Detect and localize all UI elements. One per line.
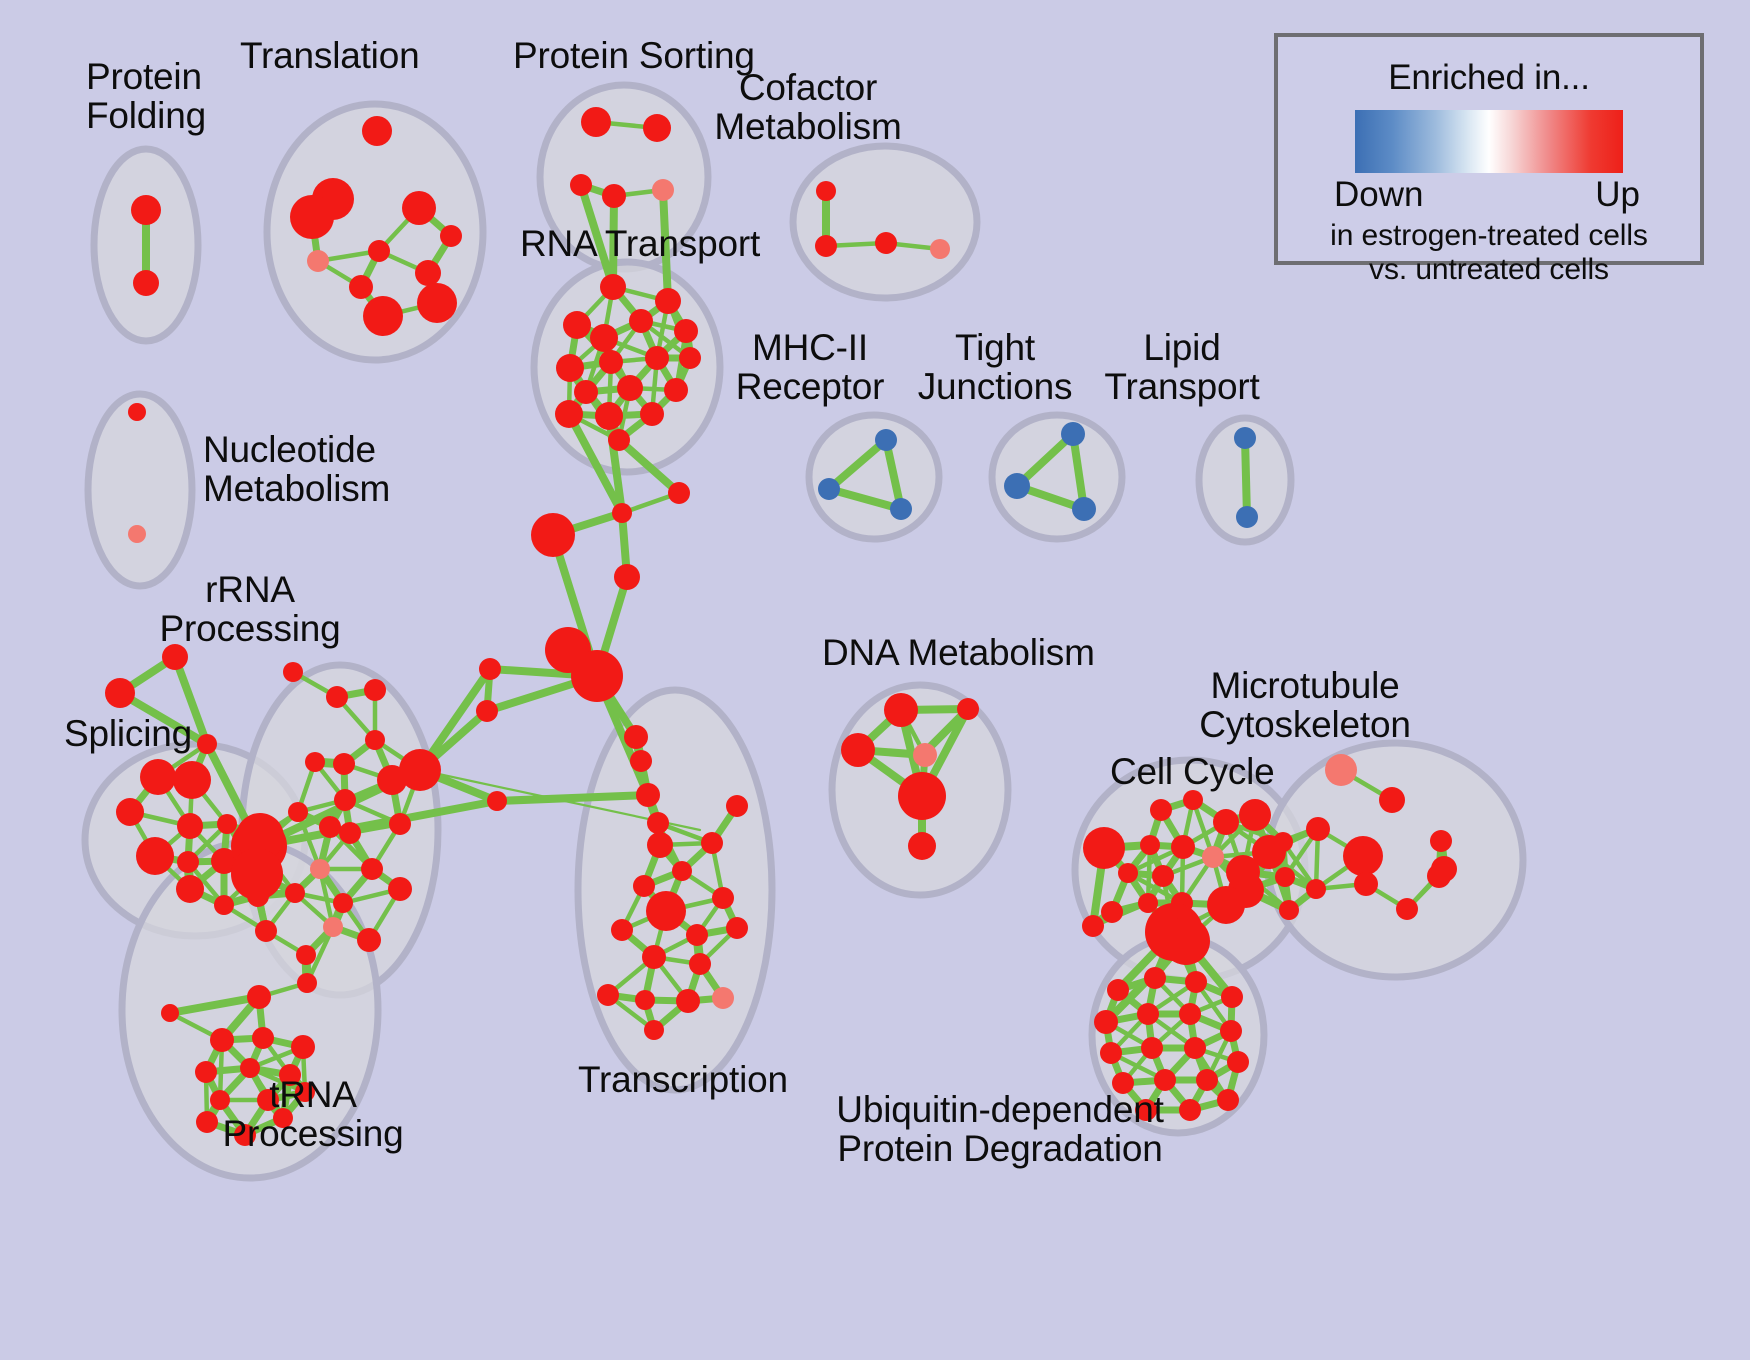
network-node[interactable] xyxy=(1072,497,1096,521)
network-node[interactable] xyxy=(664,378,688,402)
cluster-hull-microtubule-cytoskeleton xyxy=(1267,743,1523,977)
cluster-label-line: Metabolism xyxy=(714,107,901,146)
network-node[interactable] xyxy=(479,658,501,680)
cluster-label-ubiquitin-protein-degradation: Ubiquitin-dependentProtein Degradation xyxy=(836,1090,1163,1168)
network-node[interactable] xyxy=(476,700,498,722)
network-node[interactable] xyxy=(608,429,630,451)
legend-endpoint-labels: Down Up xyxy=(1324,175,1654,217)
network-node[interactable] xyxy=(319,816,341,838)
cluster-hull-nucleotide-metabolism xyxy=(88,394,192,586)
network-node[interactable] xyxy=(563,311,591,339)
cluster-label-line: Processing xyxy=(222,1114,403,1153)
network-node[interactable] xyxy=(388,877,412,901)
cluster-label-splicing: Splicing xyxy=(64,714,192,753)
network-node[interactable] xyxy=(440,225,462,247)
network-node[interactable] xyxy=(415,260,441,286)
network-node[interactable] xyxy=(1179,1003,1201,1025)
cluster-label-translation: Translation xyxy=(240,36,419,75)
network-edge xyxy=(1245,438,1247,517)
network-node[interactable] xyxy=(1217,1089,1239,1111)
network-node[interactable] xyxy=(1239,799,1271,831)
network-node[interactable] xyxy=(128,403,146,421)
cluster-label-line: Lipid xyxy=(1104,328,1259,367)
network-node[interactable] xyxy=(290,195,334,239)
legend-high-label: Up xyxy=(1595,175,1640,215)
cluster-label-rrna-processing: rRNAProcessing xyxy=(159,570,340,648)
figure-canvas: ProteinFoldingTranslationProtein Sorting… xyxy=(0,0,1750,1360)
network-node[interactable] xyxy=(676,989,700,1013)
network-node[interactable] xyxy=(1083,827,1125,869)
network-node[interactable] xyxy=(105,678,135,708)
cluster-label-line: Translation xyxy=(240,36,419,75)
network-node[interactable] xyxy=(875,232,897,254)
network-node[interactable] xyxy=(365,730,385,750)
cluster-label-transcription: Transcription xyxy=(578,1060,788,1099)
network-node[interactable] xyxy=(252,1027,274,1049)
network-node[interactable] xyxy=(1306,817,1330,841)
network-node[interactable] xyxy=(368,240,390,262)
cluster-hull-mhc-ii-receptor xyxy=(809,415,939,539)
network-node[interactable] xyxy=(389,813,411,835)
cluster-label-line: Splicing xyxy=(64,714,192,753)
network-node[interactable] xyxy=(1183,790,1203,810)
network-node[interactable] xyxy=(323,917,343,937)
cluster-label-tight-junctions: TightJunctions xyxy=(918,328,1073,406)
network-node[interactable] xyxy=(333,893,353,913)
network-node[interactable] xyxy=(176,875,204,903)
network-node[interactable] xyxy=(595,402,623,430)
cluster-label-dna-metabolism: DNA Metabolism xyxy=(822,633,1095,672)
network-node[interactable] xyxy=(128,525,146,543)
cluster-label-line: tRNA xyxy=(222,1075,403,1114)
cluster-label-line: Protein Degradation xyxy=(836,1129,1163,1168)
network-node[interactable] xyxy=(672,861,692,881)
network-node[interactable] xyxy=(349,275,373,299)
network-node[interactable] xyxy=(334,789,356,811)
network-node[interactable] xyxy=(255,920,277,942)
network-node[interactable] xyxy=(1196,1069,1218,1091)
network-node[interactable] xyxy=(630,750,652,772)
network-node[interactable] xyxy=(701,832,723,854)
network-node[interactable] xyxy=(633,875,655,897)
network-node[interactable] xyxy=(531,513,575,557)
network-node[interactable] xyxy=(574,380,598,404)
network-node[interactable] xyxy=(614,564,640,590)
network-node[interactable] xyxy=(908,832,936,860)
cluster-label-line: Nucleotide xyxy=(203,430,390,469)
network-node[interactable] xyxy=(957,698,979,720)
network-node[interactable] xyxy=(131,195,161,225)
network-node[interactable] xyxy=(1227,1051,1249,1073)
cluster-label-line: Microtubule xyxy=(1199,666,1411,705)
network-node[interactable] xyxy=(571,650,623,702)
network-node[interactable] xyxy=(116,798,144,826)
cluster-label-line: Cell Cycle xyxy=(1110,752,1275,791)
network-node[interactable] xyxy=(644,1020,664,1040)
network-node[interactable] xyxy=(647,812,669,834)
network-node[interactable] xyxy=(1354,872,1378,896)
network-node[interactable] xyxy=(818,478,840,500)
network-node[interactable] xyxy=(1236,506,1258,528)
network-node[interactable] xyxy=(815,235,837,257)
legend-subtitle-line-1: in estrogen-treated cells xyxy=(1278,219,1700,253)
network-node[interactable] xyxy=(1107,979,1129,1001)
cluster-label-line: Folding xyxy=(86,96,206,135)
network-node[interactable] xyxy=(197,734,217,754)
network-node[interactable] xyxy=(161,1004,179,1022)
cluster-label-cofactor-metabolism: CofactorMetabolism xyxy=(714,68,901,146)
network-node[interactable] xyxy=(556,354,584,382)
network-node[interactable] xyxy=(1273,832,1293,852)
network-node[interactable] xyxy=(1141,1037,1163,1059)
cluster-label-lipid-transport: LipidTransport xyxy=(1104,328,1259,406)
network-node[interactable] xyxy=(1306,879,1326,899)
network-node[interactable] xyxy=(602,184,626,208)
network-node[interactable] xyxy=(611,919,633,941)
network-node[interactable] xyxy=(898,772,946,820)
network-node[interactable] xyxy=(884,693,918,727)
cluster-label-line: Cofactor xyxy=(714,68,901,107)
network-node[interactable] xyxy=(686,924,708,946)
network-node[interactable] xyxy=(363,296,403,336)
network-node[interactable] xyxy=(1082,915,1104,937)
network-node[interactable] xyxy=(599,350,623,374)
cluster-label-line: MHC-II xyxy=(736,328,885,367)
cluster-label-cell-cycle: Cell Cycle xyxy=(1110,752,1275,791)
network-node[interactable] xyxy=(841,733,875,767)
network-node[interactable] xyxy=(1325,754,1357,786)
network-node[interactable] xyxy=(1061,422,1085,446)
network-node[interactable] xyxy=(291,1035,315,1059)
network-node[interactable] xyxy=(307,250,329,272)
network-node[interactable] xyxy=(1179,1099,1201,1121)
network-node[interactable] xyxy=(674,319,698,343)
network-node[interactable] xyxy=(1184,1037,1206,1059)
network-node[interactable] xyxy=(296,945,316,965)
cluster-label-microtubule-cytoskeleton: MicrotubuleCytoskeleton xyxy=(1199,666,1411,744)
network-node[interactable] xyxy=(1207,886,1245,924)
cluster-label-protein-folding: ProteinFolding xyxy=(86,57,206,135)
network-node[interactable] xyxy=(285,883,305,903)
network-node[interactable] xyxy=(1185,971,1207,993)
network-node[interactable] xyxy=(1101,901,1123,923)
cluster-label-line: Tight xyxy=(918,328,1073,367)
network-node[interactable] xyxy=(640,402,664,426)
network-node[interactable] xyxy=(1154,1069,1176,1091)
network-node[interactable] xyxy=(173,761,211,799)
network-node[interactable] xyxy=(283,662,303,682)
cluster-label-line: DNA Metabolism xyxy=(822,633,1095,672)
network-node[interactable] xyxy=(333,753,355,775)
network-node[interactable] xyxy=(570,174,592,196)
network-node[interactable] xyxy=(655,288,681,314)
network-node[interactable] xyxy=(362,116,392,146)
network-node[interactable] xyxy=(1137,1003,1159,1025)
cluster-label-trna-processing: tRNAProcessing xyxy=(222,1075,403,1153)
network-node[interactable] xyxy=(643,114,671,142)
network-node[interactable] xyxy=(590,324,618,352)
network-node[interactable] xyxy=(417,283,457,323)
network-node[interactable] xyxy=(1171,835,1195,859)
cluster-label-line: Receptor xyxy=(736,367,885,406)
network-node[interactable] xyxy=(297,973,317,993)
network-node[interactable] xyxy=(247,985,271,1009)
network-node[interactable] xyxy=(310,859,330,879)
network-node[interactable] xyxy=(1213,809,1239,835)
network-node[interactable] xyxy=(357,928,381,952)
network-node[interactable] xyxy=(913,743,937,767)
network-node[interactable] xyxy=(177,813,203,839)
network-node[interactable] xyxy=(636,783,660,807)
network-node[interactable] xyxy=(210,1028,234,1052)
network-node[interactable] xyxy=(1431,856,1457,882)
network-node[interactable] xyxy=(196,1111,218,1133)
network-node[interactable] xyxy=(1430,830,1452,852)
network-node[interactable] xyxy=(361,858,383,880)
network-node[interactable] xyxy=(1234,427,1256,449)
network-node[interactable] xyxy=(668,482,690,504)
network-node[interactable] xyxy=(642,945,666,969)
network-node[interactable] xyxy=(1118,863,1138,883)
network-node[interactable] xyxy=(195,1061,217,1083)
network-node[interactable] xyxy=(1396,898,1418,920)
network-node[interactable] xyxy=(399,749,441,791)
network-node[interactable] xyxy=(1221,986,1243,1008)
network-node[interactable] xyxy=(875,429,897,451)
cluster-label-line: Transport xyxy=(1104,367,1259,406)
network-node[interactable] xyxy=(1279,900,1299,920)
network-node[interactable] xyxy=(645,346,669,370)
network-node[interactable] xyxy=(136,837,174,875)
network-node[interactable] xyxy=(1343,836,1383,876)
cluster-label-line: rRNA xyxy=(159,570,340,609)
network-node[interactable] xyxy=(140,759,176,795)
network-node[interactable] xyxy=(1144,967,1166,989)
network-node[interactable] xyxy=(597,984,619,1006)
network-node[interactable] xyxy=(816,181,836,201)
network-node[interactable] xyxy=(1152,865,1174,887)
network-node[interactable] xyxy=(177,851,199,873)
network-node[interactable] xyxy=(364,679,386,701)
cluster-label-line: Processing xyxy=(159,609,340,648)
network-node[interactable] xyxy=(555,400,583,428)
network-node[interactable] xyxy=(231,848,283,900)
cluster-label-line: Junctions xyxy=(918,367,1073,406)
legend-panel: Enriched in... Down Up in estrogen-treat… xyxy=(1274,33,1704,265)
network-node[interactable] xyxy=(689,953,711,975)
network-node[interactable] xyxy=(288,802,308,822)
network-node[interactable] xyxy=(1275,867,1295,887)
cluster-label-line: RNA Transport xyxy=(520,224,760,263)
cluster-label-line: Cytoskeleton xyxy=(1199,705,1411,744)
network-node[interactable] xyxy=(1150,799,1172,821)
cluster-label-line: Ubiquitin-dependent xyxy=(836,1090,1163,1129)
network-node[interactable] xyxy=(629,309,653,333)
cluster-label-nucleotide-metabolism: NucleotideMetabolism xyxy=(203,430,390,508)
network-node[interactable] xyxy=(1094,1010,1118,1034)
cluster-hull-cofactor-metabolism xyxy=(793,146,977,298)
network-node[interactable] xyxy=(930,239,950,259)
legend-color-gradient-bar xyxy=(1355,110,1623,173)
network-node[interactable] xyxy=(1004,473,1030,499)
network-node[interactable] xyxy=(612,503,632,523)
network-node[interactable] xyxy=(1220,1020,1242,1042)
cluster-label-line: Protein xyxy=(86,57,206,96)
network-node[interactable] xyxy=(581,107,611,137)
network-node[interactable] xyxy=(1379,787,1405,813)
network-node[interactable] xyxy=(600,274,626,300)
network-node[interactable] xyxy=(1140,835,1160,855)
legend-low-label: Down xyxy=(1334,175,1423,215)
network-node[interactable] xyxy=(214,895,234,915)
cluster-label-mhc-ii-receptor: MHC-IIReceptor xyxy=(736,328,885,406)
legend-title: Enriched in... xyxy=(1278,58,1700,98)
network-node[interactable] xyxy=(326,686,348,708)
network-node[interactable] xyxy=(647,832,673,858)
network-node[interactable] xyxy=(1202,846,1224,868)
network-node[interactable] xyxy=(617,375,643,401)
cluster-label-line: Transcription xyxy=(578,1060,788,1099)
network-node[interactable] xyxy=(712,987,734,1009)
network-node[interactable] xyxy=(652,179,674,201)
network-node[interactable] xyxy=(712,887,734,909)
network-node[interactable] xyxy=(890,498,912,520)
cluster-label-line: Metabolism xyxy=(203,469,390,508)
network-node[interactable] xyxy=(402,191,436,225)
network-node[interactable] xyxy=(133,270,159,296)
network-node[interactable] xyxy=(339,822,361,844)
network-node[interactable] xyxy=(624,725,648,749)
network-node[interactable] xyxy=(635,990,655,1010)
network-node[interactable] xyxy=(646,891,686,931)
network-node[interactable] xyxy=(679,347,701,369)
network-node[interactable] xyxy=(1162,917,1210,965)
network-node[interactable] xyxy=(726,795,748,817)
legend-subtitle-line-2: vs. untreated cells xyxy=(1278,253,1700,287)
network-node[interactable] xyxy=(1138,893,1158,913)
network-node[interactable] xyxy=(217,814,237,834)
cluster-label-rna-transport: RNA Transport xyxy=(520,224,760,263)
network-node[interactable] xyxy=(487,791,507,811)
network-node[interactable] xyxy=(305,752,325,772)
network-node[interactable] xyxy=(1100,1042,1122,1064)
network-node[interactable] xyxy=(726,917,748,939)
